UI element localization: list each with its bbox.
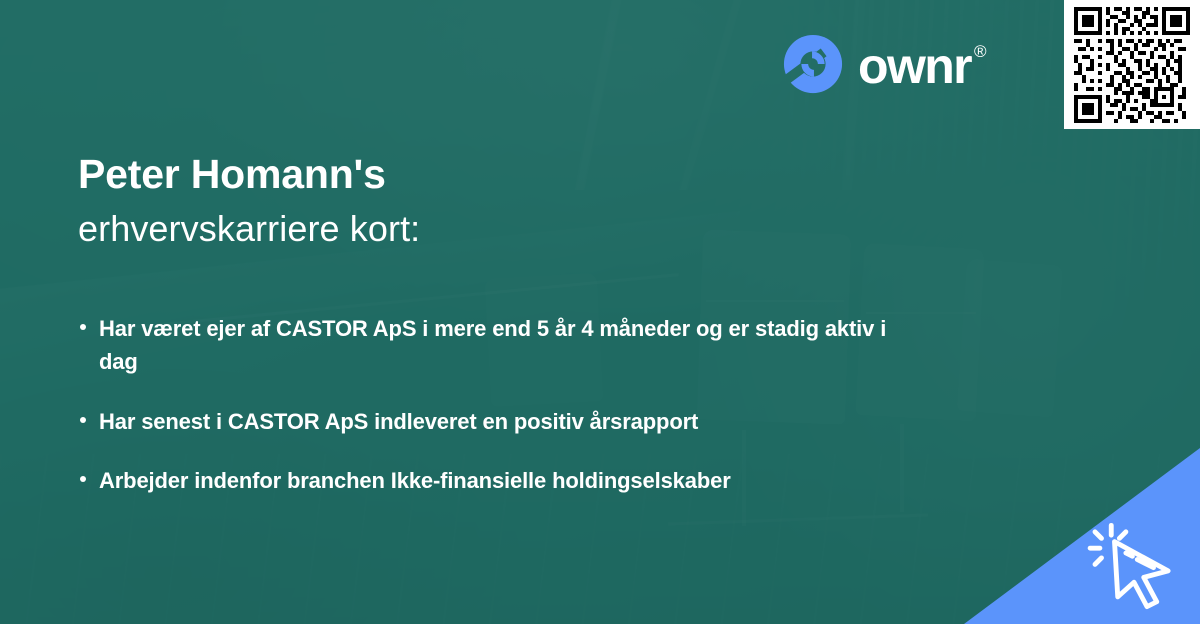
bullet-dot-icon [80, 476, 86, 482]
bullet-dot-icon [80, 417, 86, 423]
page-title: Peter Homann's erhvervskarriere kort: [78, 152, 420, 251]
list-item-label: Har senest i CASTOR ApS indleveret en po… [99, 405, 698, 438]
list-item: Arbejder indenfor branchen Ikke-finansie… [80, 464, 940, 497]
list-item: Har været ejer af CASTOR ApS i mere end … [80, 312, 940, 379]
list-item-label: Har været ejer af CASTOR ApS i mere end … [99, 312, 889, 379]
list-item-label: Arbejder indenfor branchen Ikke-finansie… [99, 464, 731, 497]
list-item: Har senest i CASTOR ApS indleveret en po… [80, 405, 940, 438]
ownr-wordmark: ownr [858, 41, 971, 91]
career-facts-list: Har været ejer af CASTOR ApS i mere end … [80, 312, 940, 498]
qr-code-panel[interactable] [1064, 0, 1200, 129]
ownr-swirl-mark-icon [782, 33, 844, 95]
corner-accent [964, 448, 1200, 624]
click-cursor-icon [1082, 514, 1186, 618]
title-subtitle: erhvervskarriere kort: [78, 208, 420, 250]
qr-code-icon [1074, 7, 1190, 123]
card-content: Peter Homann's erhvervskarriere kort: Ha… [0, 0, 1200, 624]
title-person-name: Peter Homann's [78, 152, 420, 196]
bullet-dot-icon [80, 324, 86, 330]
registered-trademark-icon: ® [974, 43, 987, 60]
ownr-logo[interactable]: ownr ® [782, 33, 987, 95]
